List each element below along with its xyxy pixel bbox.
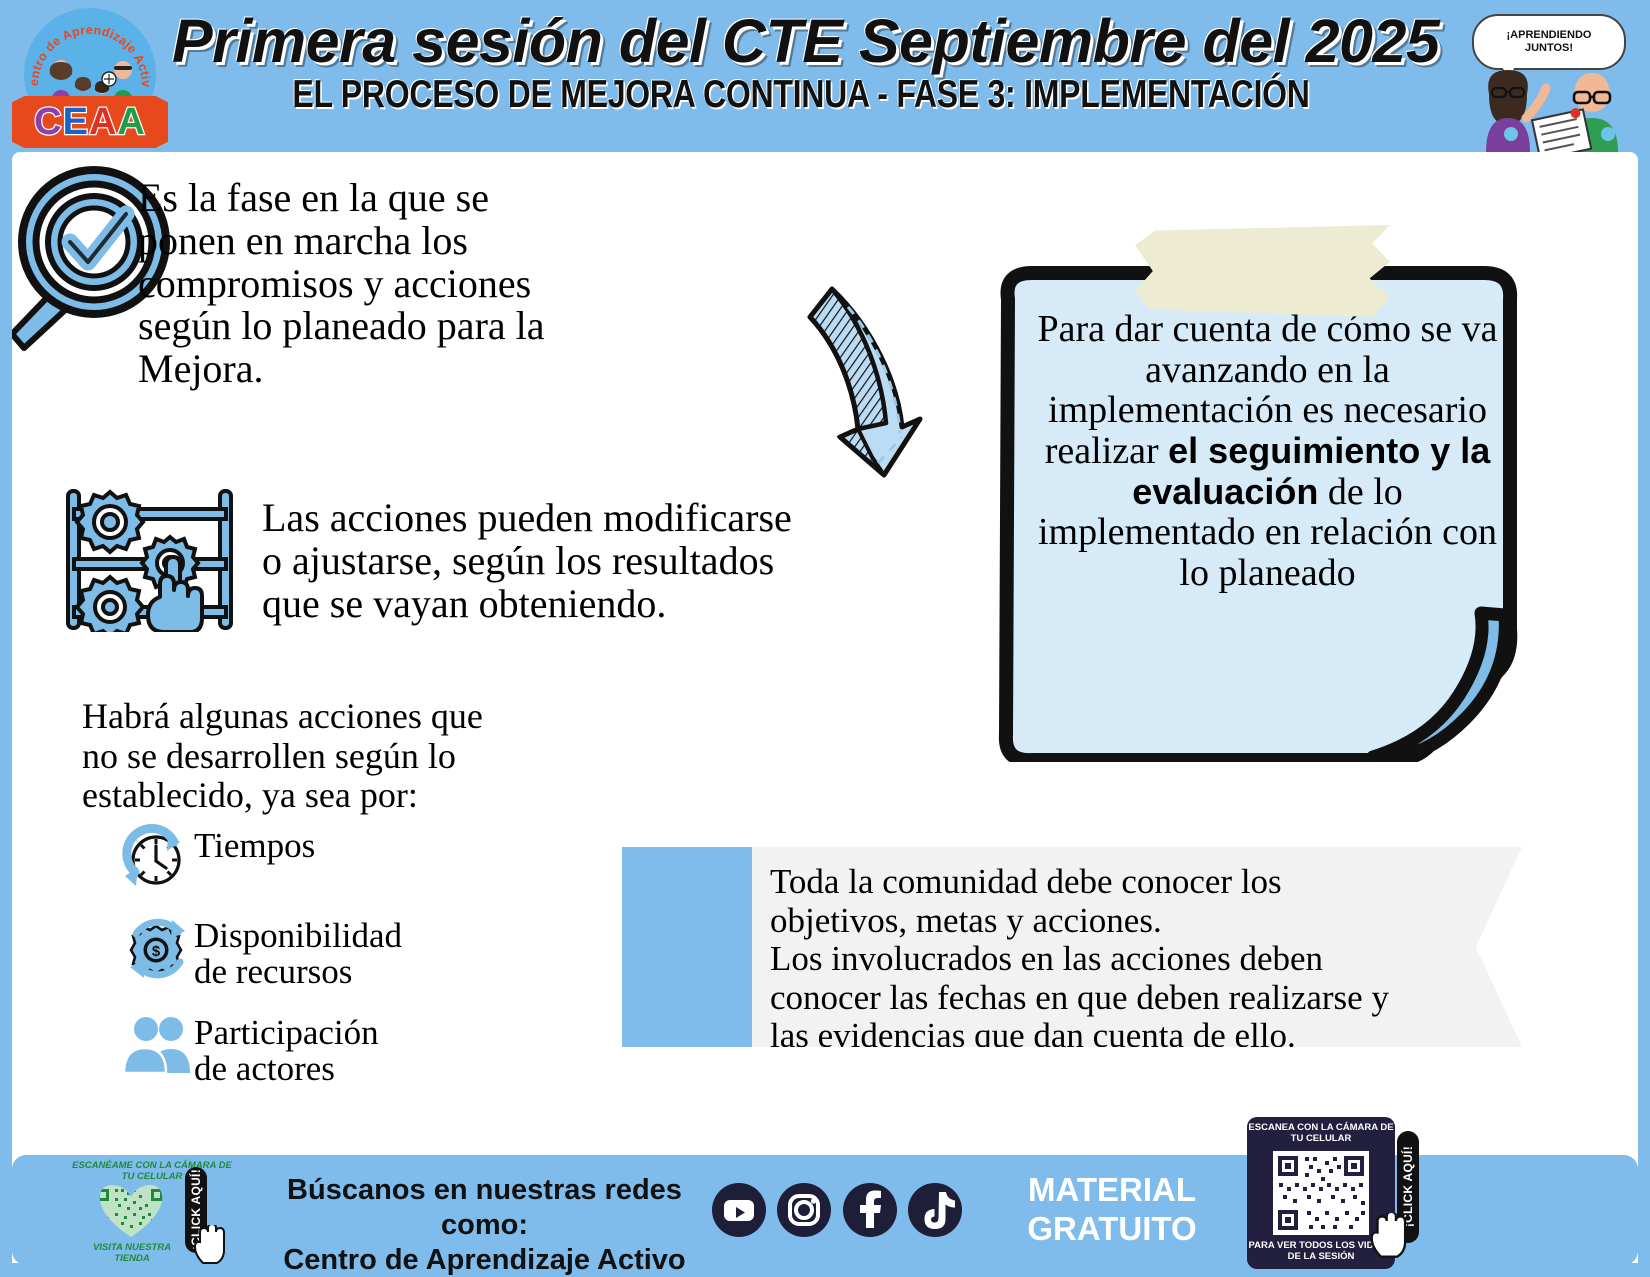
header-bar: Centro de Aprendizaje Activo [0, 0, 1650, 152]
title-group: Primera sesión del CTE Septiembre del 20… [172, 4, 1430, 116]
text-block-causes-intro: Habrá algunas acciones que no se desarro… [82, 697, 547, 816]
ceaa-logo: Centro de Aprendizaje Activo [6, 4, 172, 150]
clock-arrow-icon [122, 824, 194, 892]
social-prompt: Búscanos en nuestras redes como: Centro … [257, 1173, 712, 1277]
list-item-recursos-line1: Disponibilidad [194, 918, 402, 954]
social-prompt-line1: Búscanos en nuestras redes como: [257, 1173, 712, 1243]
note-text-bold: el seguimiento y la evaluación [1132, 430, 1490, 512]
banner-accent-bar [622, 847, 752, 1047]
header-illustration: ¡APRENDIENDO JUNTOS! [1438, 4, 1644, 150]
people-group-icon [122, 1011, 194, 1079]
heart-qr-icon[interactable] [85, 1181, 177, 1239]
block2-line-2: o ajustarse, según los resultados [262, 540, 937, 583]
logo-ribbon: CEAA [12, 96, 168, 148]
social-icons [712, 1175, 962, 1245]
store-qr-group[interactable]: ESCANÉAME CON LA CÁMARA DE TU CELULAR [67, 1161, 237, 1259]
note-card: Para dar cuenta de cómo se va avanzando … [992, 257, 1537, 762]
banner-line-3: Los involucrados en las acciones deben [770, 940, 1485, 979]
store-qr-caption-bottom: VISITA NUESTRA TIENDA [77, 1243, 187, 1264]
block1-line-4: según lo planeado para la [138, 305, 818, 348]
footer-bar: ESCANÉAME CON LA CÁMARA DE TU CELULAR [12, 1155, 1638, 1265]
material-line2: GRATUITO [997, 1210, 1227, 1249]
banner-line-2: objetivos, metas y acciones. [770, 902, 1485, 941]
list-item-actores-line2: de actores [194, 1051, 379, 1087]
hand-cursor-icon [193, 1225, 227, 1265]
list-item-recursos-line2: de recursos [194, 954, 402, 990]
material-line1: MATERIAL [997, 1171, 1227, 1210]
curved-down-arrow-icon [802, 277, 927, 482]
svg-text:$: $ [152, 943, 161, 960]
tape-strip [1135, 225, 1390, 317]
list-item-recursos-label: Disponibilidad de recursos [194, 914, 402, 989]
list-item-actores: Participación de actores [122, 1011, 542, 1086]
list-item-tiempos: Tiempos [122, 824, 542, 892]
list-item-recursos: $ Disponibilidad de recursos [122, 914, 542, 989]
store-qr-caption-top: ESCANÉAME CON LA CÁMARA DE TU CELULAR [67, 1161, 237, 1182]
tiktok-icon[interactable] [908, 1183, 962, 1237]
block2-line-3: que se vayan obteniendo. [262, 583, 937, 626]
block1-line-3: compromisos y acciones [138, 263, 818, 306]
facebook-icon[interactable] [843, 1183, 897, 1237]
block1-line-5: Mejora. [138, 348, 818, 391]
youtube-icon[interactable] [712, 1183, 766, 1237]
page-subtitle: EL PROCESO DE MEJORA CONTINUA - FASE 3: … [285, 75, 1317, 116]
banner-line-4: conocer las fechas en que deben realizar… [770, 979, 1485, 1018]
list-item-actores-line1: Participación [194, 1015, 379, 1051]
text-block-adjust-actions: Las acciones pueden modificarse o ajusta… [262, 497, 937, 625]
videos-qr-group[interactable]: ESCANEA CON LA CÁMARA DE TU CELULAR [1247, 1117, 1422, 1265]
poster-root: Centro de Aprendizaje Activo [0, 0, 1650, 1275]
block3-line-2: no se desarrollen según lo [82, 737, 547, 777]
main-panel: Es la fase en la que se ponen en marcha … [12, 152, 1638, 1263]
hand-cursor-icon-2 [1369, 1213, 1409, 1259]
text-block-phase-definition: Es la fase en la que se ponen en marcha … [138, 177, 818, 391]
instagram-icon[interactable] [777, 1183, 831, 1237]
videos-qr-caption-top: ESCANEA CON LA CÁMARA DE TU CELULAR [1247, 1123, 1395, 1145]
banner-text: Toda la comunidad debe conocer los objet… [770, 863, 1485, 1056]
block2-line-1: Las acciones pueden modificarse [262, 497, 937, 540]
block1-line-2: ponen en marcha los [138, 220, 818, 263]
speech-bubble-line2: JUNTOS! [1525, 42, 1573, 55]
note-card-text: Para dar cuenta de cómo se va avanzando … [1020, 309, 1515, 594]
gears-abacus-icon [62, 487, 247, 632]
logo-acronym: CEAA [34, 103, 146, 141]
banner-line-5: las evidencias que dan cuenta de ello. [770, 1017, 1485, 1056]
block3-line-1: Habrá algunas acciones que [82, 697, 547, 737]
community-banner: Toda la comunidad debe conocer los objet… [622, 847, 1522, 1047]
money-gear-cycle-icon: $ [122, 914, 194, 982]
speech-bubble-line1: ¡APRENDIENDO [1507, 29, 1592, 42]
causes-list: Tiempos $ [122, 824, 542, 1109]
page-title: Primera sesión del CTE Septiembre del 20… [172, 10, 1430, 72]
banner-body: Toda la comunidad debe conocer los objet… [752, 847, 1522, 1047]
material-gratuito-label: MATERIAL GRATUITO [997, 1171, 1227, 1249]
videos-qr-code-icon[interactable] [1273, 1151, 1369, 1235]
list-item-tiempos-label: Tiempos [194, 824, 315, 864]
block1-line-1: Es la fase en la que se [138, 177, 818, 220]
social-prompt-line2: Centro de Aprendizaje Activo [257, 1243, 712, 1277]
banner-line-1: Toda la comunidad debe conocer los [770, 863, 1485, 902]
two-teachers-icon [1456, 56, 1642, 152]
block3-line-3: establecido, ya sea por: [82, 776, 547, 816]
list-item-actores-label: Participación de actores [194, 1011, 379, 1086]
